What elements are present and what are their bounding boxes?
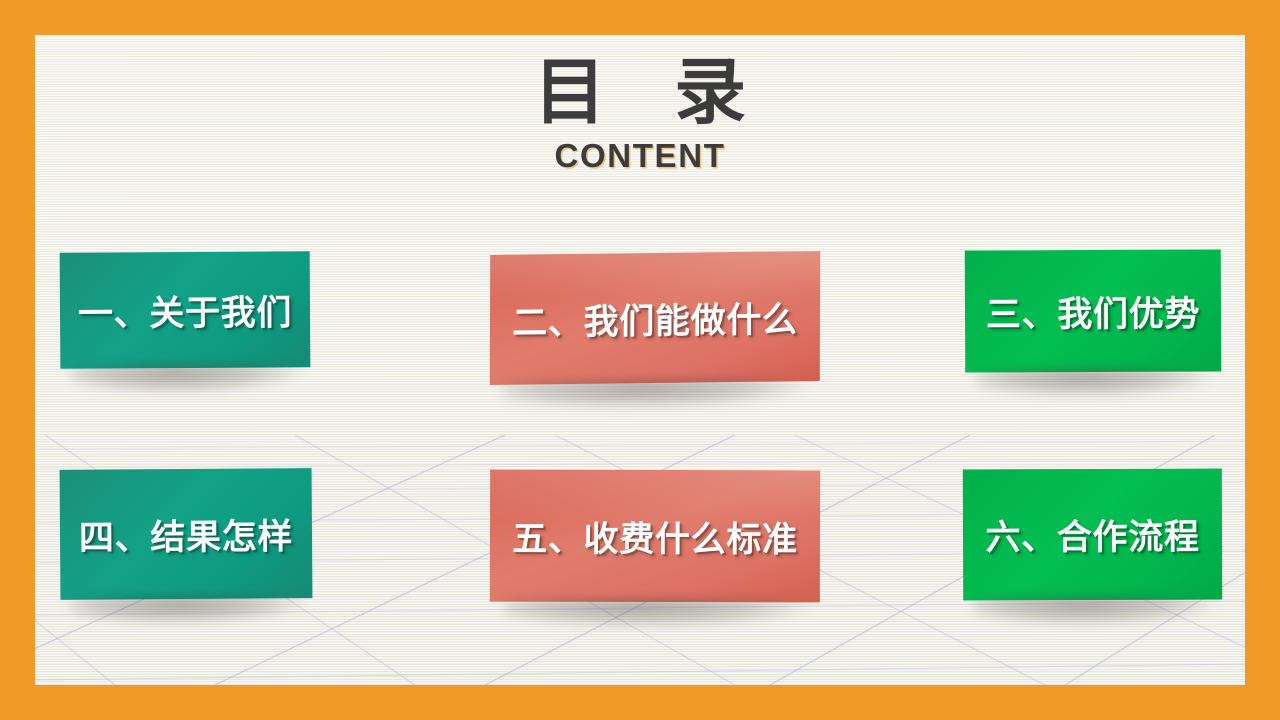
content-item-1[interactable]: 一、关于我们 [60, 251, 311, 369]
slide-canvas: 目 录 CONTENT 一、关于我们 二、我们能做什么 三、我们优势 四、结果怎… [35, 35, 1245, 685]
page-title: 目 录 [35, 55, 1245, 131]
page-subtitle: CONTENT [35, 137, 1245, 175]
content-item-4-label: 四、结果怎样 [79, 508, 294, 560]
content-item-1-label: 一、关于我们 [78, 284, 293, 336]
content-item-5[interactable]: 五、收费什么标准 [490, 470, 820, 603]
presentation-slide: 目 录 CONTENT 一、关于我们 二、我们能做什么 三、我们优势 四、结果怎… [0, 0, 1280, 720]
content-item-3[interactable]: 三、我们优势 [965, 249, 1222, 372]
content-item-4[interactable]: 四、结果怎样 [60, 468, 313, 600]
content-item-2[interactable]: 二、我们能做什么 [490, 251, 820, 385]
content-item-6-label: 六、合作流程 [985, 509, 1199, 561]
content-item-2-label: 二、我们能做什么 [512, 291, 798, 345]
content-item-3-label: 三、我们优势 [986, 285, 1200, 337]
title-block: 目 录 CONTENT [35, 55, 1245, 175]
content-item-6[interactable]: 六、合作流程 [963, 469, 1222, 601]
content-item-5-label: 五、收费什么标准 [512, 510, 798, 562]
